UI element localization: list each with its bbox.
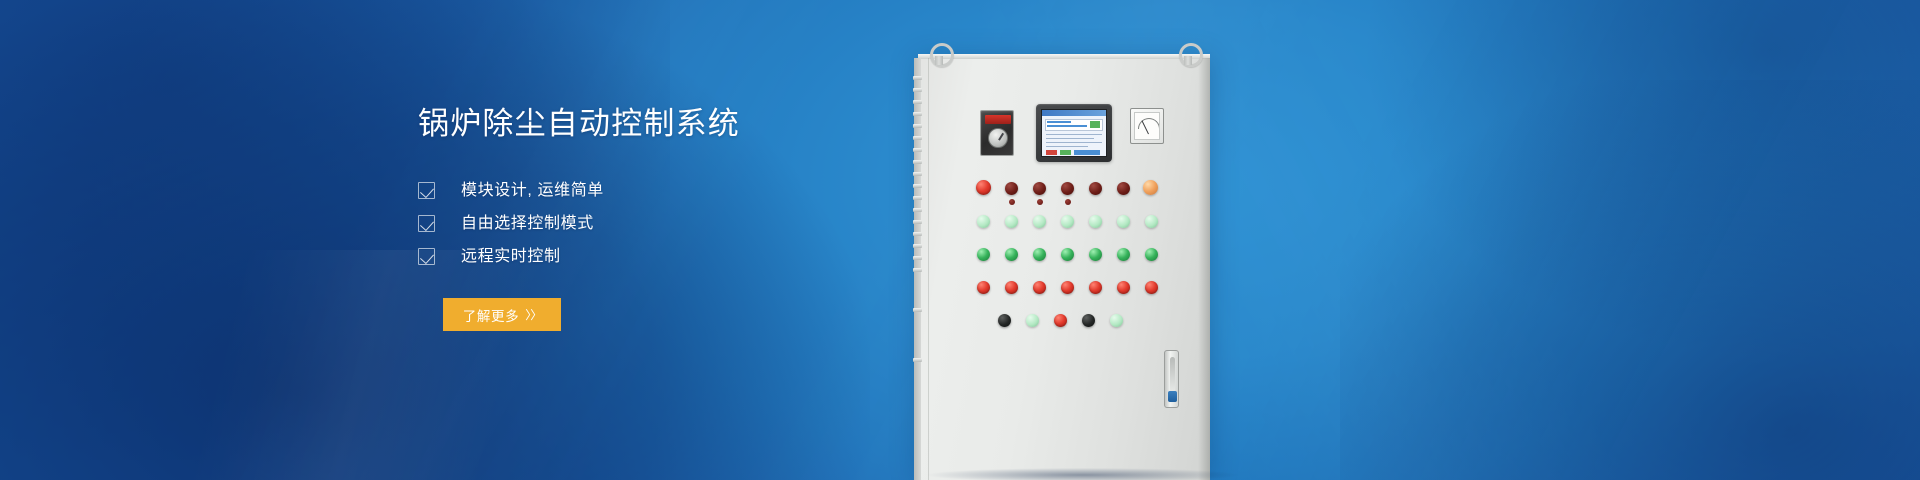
indicator-lamp-green[interactable] <box>977 248 990 261</box>
cabinet-hinge <box>913 76 922 80</box>
timer-relay-device[interactable] <box>980 110 1014 156</box>
feature-label: 模块设计, 运维简单 <box>461 181 604 201</box>
indicator-lamp-red[interactable] <box>1033 281 1046 294</box>
hmi-touchscreen-panel[interactable] <box>1036 104 1112 162</box>
cabinet-hinge <box>913 136 922 140</box>
list-item: 自由选择控制模式 <box>418 207 848 240</box>
hmi-bar <box>1047 121 1071 123</box>
learn-more-button[interactable]: 了解更多 〉〉 <box>443 298 561 331</box>
timer-dial-knob[interactable] <box>988 128 1008 148</box>
cabinet-hinge <box>913 268 922 272</box>
hmi-title-bar <box>1042 110 1106 116</box>
indicator-lamp-mint[interactable] <box>1110 314 1123 327</box>
panel-screw <box>1037 199 1043 205</box>
gauge-face <box>1134 112 1160 140</box>
indicator-lamp-red[interactable] <box>977 281 990 294</box>
indicator-lamp-red[interactable] <box>1117 281 1130 294</box>
timer-display <box>985 115 1011 124</box>
hero-content: 锅炉除尘自动控制系统 模块设计, 运维简单 自由选择控制模式 远程实时控制 了解… <box>418 104 848 331</box>
handle-grip <box>1170 357 1175 393</box>
list-item: 远程实时控制 <box>418 240 848 273</box>
indicator-lamp-green[interactable] <box>1089 248 1102 261</box>
indicator-lamp-green[interactable] <box>1145 248 1158 261</box>
cabinet-hinge <box>913 124 922 128</box>
product-photo <box>900 0 1920 480</box>
indicator-lamp-mint[interactable] <box>1061 215 1074 228</box>
indicator-lamp-orange[interactable] <box>1143 180 1158 195</box>
hmi-divider <box>1046 146 1088 147</box>
page-title: 锅炉除尘自动控制系统 <box>418 104 848 144</box>
lifting-eye-icon-left <box>930 43 948 65</box>
lifting-eye-icon-right <box>1179 43 1197 65</box>
hmi-status-green <box>1090 121 1100 128</box>
panel-screw <box>1065 199 1071 205</box>
indicator-lamp-mint[interactable] <box>1026 314 1039 327</box>
indicator-lamp-red[interactable] <box>1005 281 1018 294</box>
panel-screw <box>1009 199 1015 205</box>
indicator-lamp-red[interactable] <box>1054 314 1067 327</box>
indicator-lamp-red[interactable] <box>1089 281 1102 294</box>
hmi-divider <box>1046 142 1102 143</box>
cabinet-hinge <box>913 256 922 260</box>
hmi-status-red <box>1046 150 1057 155</box>
cabinet-hinge <box>913 208 922 212</box>
indicator-lamp-dark-red[interactable] <box>1061 182 1074 195</box>
cabinet-hinge <box>913 112 922 116</box>
indicator-lamp-dark-red[interactable] <box>1005 182 1018 195</box>
cabinet-hinge <box>913 196 922 200</box>
indicator-lamp-mint[interactable] <box>1117 215 1130 228</box>
indicator-lamp-red[interactable] <box>976 180 991 195</box>
selector-knob-black[interactable] <box>998 314 1011 327</box>
analog-gauge <box>1130 108 1164 144</box>
indicator-lamp-dark-red[interactable] <box>1089 182 1102 195</box>
indicator-lamp-green[interactable] <box>1061 248 1074 261</box>
checkbox-checked-icon <box>418 182 435 199</box>
cabinet-hinge <box>913 100 922 104</box>
list-item: 模块设计, 运维简单 <box>418 174 848 207</box>
indicator-lamp-mint[interactable] <box>1145 215 1158 228</box>
hmi-bar <box>1074 150 1100 155</box>
cabinet-hinge <box>913 148 922 152</box>
learn-more-label: 了解更多 <box>463 305 519 325</box>
indicator-lamp-green[interactable] <box>1117 248 1130 261</box>
cabinet-right-edge-shadow <box>1198 58 1210 480</box>
indicator-lamp-mint[interactable] <box>1089 215 1102 228</box>
checkbox-checked-icon <box>418 215 435 232</box>
cabinet-hinge <box>913 232 922 236</box>
cabinet-hinge <box>913 172 922 176</box>
cabinet-hinge <box>913 88 922 92</box>
feature-label: 远程实时控制 <box>461 247 561 267</box>
cabinet-ground-shadow <box>928 468 1238 480</box>
checkbox-checked-icon <box>418 248 435 265</box>
cabinet-door-handle[interactable] <box>1164 350 1179 408</box>
cabinet-top-lip <box>918 54 1210 59</box>
indicator-lamp-mint[interactable] <box>1005 215 1018 228</box>
cabinet-hinge <box>913 184 922 188</box>
chevron-right-double-icon: 〉〉 <box>525 306 541 323</box>
hero-banner: 锅炉除尘自动控制系统 模块设计, 运维简单 自由选择控制模式 远程实时控制 了解… <box>0 0 1920 480</box>
indicator-lamp-green[interactable] <box>1005 248 1018 261</box>
cabinet-hinge <box>913 308 922 312</box>
cabinet-hinge <box>913 160 922 164</box>
indicator-lamp-red[interactable] <box>1061 281 1074 294</box>
cabinet-hinge <box>913 244 922 248</box>
hmi-divider <box>1046 138 1094 139</box>
indicator-lamp-mint[interactable] <box>977 215 990 228</box>
cabinet-door-seam <box>928 58 929 480</box>
lock-icon[interactable] <box>1168 391 1177 402</box>
selector-knob-black[interactable] <box>1082 314 1095 327</box>
hmi-screen <box>1041 109 1107 157</box>
feature-list: 模块设计, 运维简单 自由选择控制模式 远程实时控制 <box>418 174 848 273</box>
hmi-status-green <box>1060 150 1071 155</box>
hmi-bar <box>1047 125 1087 127</box>
feature-label: 自由选择控制模式 <box>461 214 594 234</box>
hmi-divider <box>1046 134 1102 135</box>
cabinet-hinge <box>913 358 922 362</box>
indicator-lamp-dark-red[interactable] <box>1033 182 1046 195</box>
cabinet-hinge <box>913 220 922 224</box>
indicator-lamp-green[interactable] <box>1033 248 1046 261</box>
indicator-lamp-mint[interactable] <box>1033 215 1046 228</box>
control-cabinet <box>918 58 1210 480</box>
indicator-lamp-dark-red[interactable] <box>1117 182 1130 195</box>
indicator-lamp-red[interactable] <box>1145 281 1158 294</box>
